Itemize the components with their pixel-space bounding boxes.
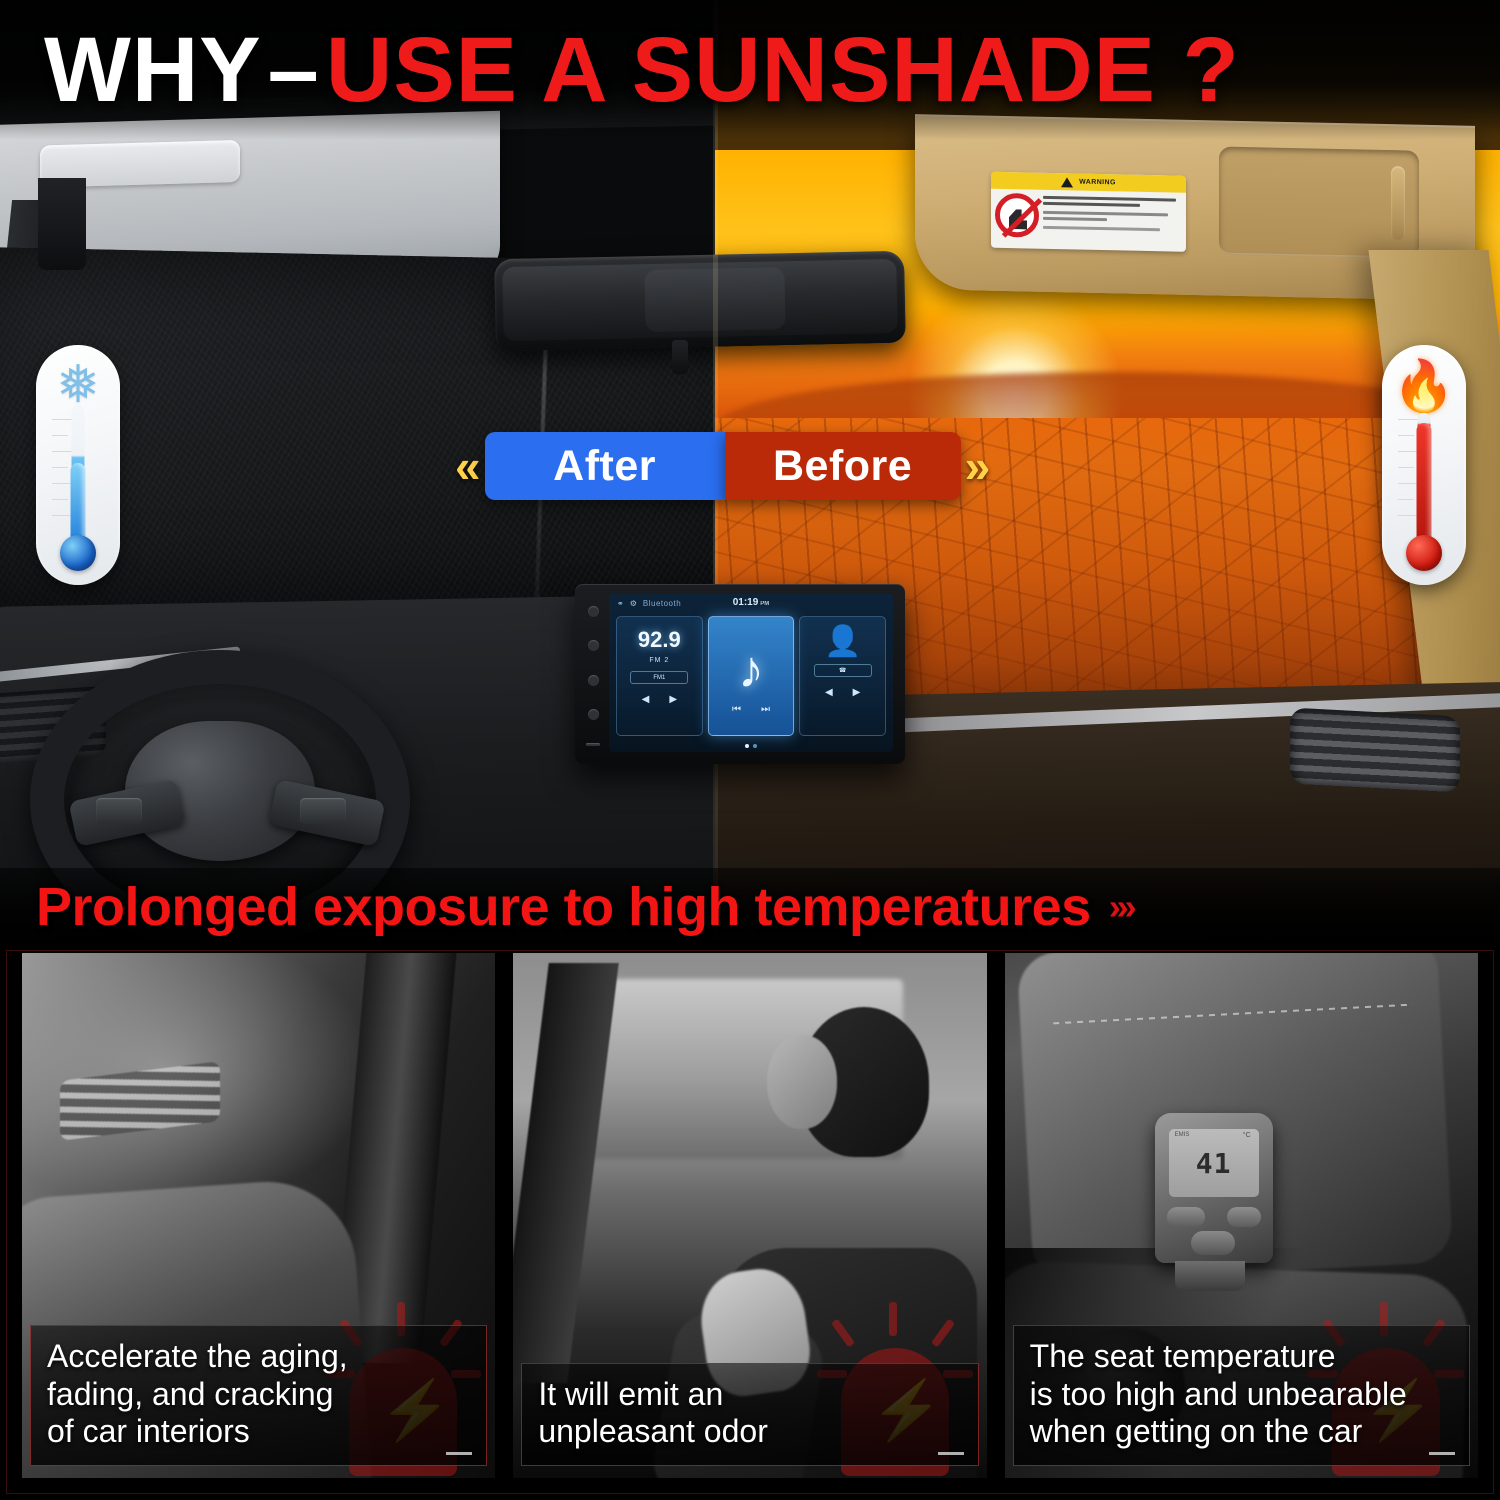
card-odor-caption: It will emit an unpleasant odor	[521, 1363, 978, 1467]
warning-label-body	[991, 189, 1186, 245]
radio-next-icon[interactable]: ▶	[669, 694, 677, 705]
screen-clock: 01:19PM	[733, 597, 770, 608]
no-rear-facing-child-seat-icon	[995, 193, 1039, 238]
card-aging-caption: Accelerate the aging, fading, and cracki…	[30, 1325, 487, 1466]
air-vent-right	[1290, 708, 1460, 793]
screen-tiles: 92.9 FM 2 FM1 ◀ ▶ ♪ ⏮ ⏭	[609, 612, 893, 736]
title-rest: USE A SUNSHADE ?	[326, 19, 1240, 121]
page-title: WHY–USE A SUNSHADE ?	[44, 24, 1240, 116]
page-dot-active[interactable]	[745, 744, 749, 748]
card-seat-temp-caption: The seat temperature is too high and unb…	[1013, 1325, 1470, 1466]
visor-vanity-mirror-cover	[1219, 147, 1419, 259]
head-unit-mount	[38, 178, 86, 270]
defroster-vent	[60, 1061, 220, 1141]
hot-thermometer-icon: 🔥	[1382, 345, 1466, 585]
thermometer-bulb-hot	[1406, 535, 1442, 571]
thermometer-fill-hot	[1417, 423, 1432, 547]
phone-controls[interactable]: ◀ ▶	[825, 687, 860, 698]
prolonged-exposure-banner: Prolonged exposure to high temperatures …	[0, 868, 1500, 945]
banner-text: Prolonged exposure to high temperatures	[36, 876, 1091, 938]
warning-triangle-icon	[1061, 177, 1073, 187]
steering-button-left	[96, 798, 142, 824]
media-prev-icon[interactable]: ⏮	[732, 704, 741, 715]
thermometer-grip	[1175, 1261, 1245, 1291]
thermometer-mode-button	[1191, 1231, 1235, 1255]
card-aging: ⚡ Accelerate the aging, fading, and crac…	[22, 953, 495, 1478]
infrared-thermometer: EMIS °C 41	[1155, 1113, 1273, 1263]
head-unit-screen[interactable]: ⚭ ⚙ Bluetooth 01:19PM 92.9 FM 2 FM1 ◀ ▶	[609, 594, 893, 752]
caption-tick-mark	[938, 1452, 964, 1455]
rearview-mirror-stem	[672, 340, 688, 374]
thermometer-unit: °C	[1243, 1132, 1251, 1139]
radio-prev-icon[interactable]: ◀	[642, 694, 650, 705]
banner-chevrons-icon: ›››	[1109, 886, 1133, 928]
power-knob-icon[interactable]	[588, 606, 599, 617]
eject-button-icon[interactable]	[586, 743, 600, 746]
audio-button-icon[interactable]	[588, 675, 599, 686]
phone-call-pill[interactable]: ☎	[814, 664, 872, 677]
child-seat-glyph	[1009, 209, 1027, 229]
person-face	[767, 1035, 837, 1129]
contact-person-icon: 👤	[824, 627, 861, 657]
thermometer-lcd: EMIS °C 41	[1169, 1129, 1259, 1197]
card-seat-temp: EMIS °C 41 ⚡ The seat temperature is too…	[1005, 953, 1478, 1478]
thermometer-emissivity-tag: EMIS	[1175, 1132, 1190, 1138]
radio-preset-pill[interactable]: FM1	[630, 671, 688, 684]
media-tile[interactable]: ♪ ⏮ ⏭	[708, 616, 795, 736]
media-next-icon[interactable]: ⏭	[761, 704, 770, 715]
bluetooth-icon: ⚭	[617, 599, 624, 608]
screen-status-text: Bluetooth	[643, 599, 681, 608]
phone-prev-icon[interactable]: ◀	[825, 687, 833, 698]
thermometer-reading: 41	[1196, 1147, 1232, 1180]
page-dot[interactable]	[753, 744, 757, 748]
snowflake-icon: ❅	[56, 359, 100, 411]
card-aging-caption-text: Accelerate the aging, fading, and cracki…	[47, 1338, 470, 1451]
steering-button-right	[300, 798, 346, 824]
radio-tile[interactable]: 92.9 FM 2 FM1 ◀ ▶	[616, 616, 703, 736]
consequence-cards: ⚡ Accelerate the aging, fading, and crac…	[0, 945, 1500, 1500]
left-chevron-icon: «	[455, 443, 481, 489]
screen-page-dots[interactable]	[745, 744, 757, 748]
caption-tick-mark	[446, 1452, 472, 1455]
menu-button-icon[interactable]	[588, 640, 599, 651]
caption-tick-mark	[1429, 1452, 1455, 1455]
before-after-hero: WARNING	[0, 0, 1500, 945]
radio-controls[interactable]: ◀ ▶	[642, 694, 677, 705]
title-band: WHY–USE A SUNSHADE ?	[0, 0, 1500, 140]
thermometer-button-left	[1167, 1207, 1205, 1227]
rearview-mirror	[494, 251, 906, 352]
media-controls[interactable]: ⏮ ⏭	[732, 704, 770, 715]
before-after-badge-group: « After Before »	[455, 432, 990, 500]
warning-heading: WARNING	[1079, 179, 1116, 187]
radio-frequency: 92.9	[638, 627, 681, 653]
title-dash: –	[268, 19, 320, 121]
title-why: WHY	[44, 19, 262, 121]
screen-status-bar: ⚭ ⚙ Bluetooth 01:19PM	[609, 594, 893, 612]
music-note-icon: ♪	[738, 647, 764, 694]
head-unit-side-buttons[interactable]	[583, 606, 603, 746]
visor-warning-label: WARNING	[991, 172, 1186, 252]
after-badge[interactable]: After	[485, 432, 725, 500]
infotainment-head-unit[interactable]: ⚭ ⚙ Bluetooth 01:19PM 92.9 FM 2 FM1 ◀ ▶	[575, 584, 905, 764]
phone-tile[interactable]: 👤 ☎ ◀ ▶	[799, 616, 886, 736]
nav-button-icon[interactable]	[588, 709, 599, 720]
radio-band: FM 2	[649, 657, 669, 664]
before-badge[interactable]: Before	[725, 432, 961, 500]
settings-gear-icon: ⚙	[630, 599, 637, 608]
warning-text-lines	[1043, 194, 1182, 241]
door-frame	[513, 963, 619, 1383]
card-odor-caption-text: It will emit an unpleasant odor	[538, 1376, 961, 1452]
flame-icon: 🔥	[1393, 361, 1455, 411]
right-chevron-icon: »	[965, 443, 991, 489]
cold-thermometer-icon: ❅	[36, 345, 120, 585]
infographic-root: WARNING	[0, 0, 1500, 1500]
card-odor: ⚡ It will emit an unpleasant odor	[513, 953, 986, 1478]
phone-next-icon[interactable]: ▶	[853, 687, 861, 698]
thermometer-button-right	[1227, 1207, 1261, 1227]
thermometer-bulb-cold	[60, 535, 96, 571]
card-seat-temp-caption-text: The seat temperature is too high and unb…	[1030, 1338, 1453, 1451]
